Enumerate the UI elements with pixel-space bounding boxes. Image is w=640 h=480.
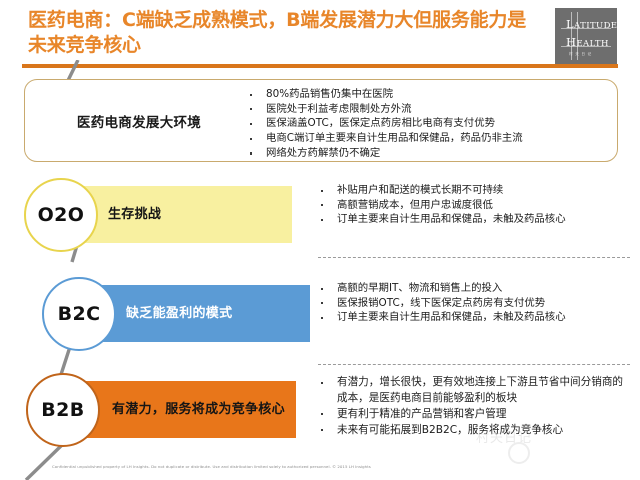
list-item: 网络处方药解禁仍不确定: [247, 146, 609, 160]
node-circle-b2b[interactable]: B2B: [26, 373, 100, 447]
environment-panel: 医药电商发展大环境 80%药品销售仍集中在医院 医院处于利益考虑限制处方外流 医…: [24, 79, 618, 162]
latitude-health-logo: LATITUDE HEALTH 村夫日记: [555, 8, 617, 64]
list-item: 补贴用户和配送的模式长期不可持续: [318, 183, 630, 197]
list-item: 订单主要来自计生用品和保健品，未触及药品核心: [318, 212, 630, 226]
bullets-o2o: 补贴用户和配送的模式长期不可持续 高额营销成本，但用户忠诚度很低 订单主要来自计…: [318, 183, 630, 227]
footer-disclaimer: Confidential unpublished property of LH …: [52, 464, 612, 469]
environment-label: 医药电商发展大环境: [43, 111, 235, 131]
logo-latitude-capital: L: [566, 17, 574, 31]
list-item: 更有利于精准的产品营销和客户管理: [318, 407, 630, 423]
list-item: 医保涵盖OTC，医保定点药房相比电商有支付优势: [247, 116, 609, 130]
page-title: 医药电商：C端缺乏成熟模式，B端发展潜力大但服务能力是未来竞争核心: [28, 8, 528, 58]
list-item: 高额营销成本，但用户忠诚度很低: [318, 198, 630, 212]
watermark-ring-icon: [508, 442, 530, 464]
list-item: 订单主要来自计生用品和保健品，未触及药品核心: [318, 310, 630, 324]
list-item: 高额的早期IT、物流和销售上的投入: [318, 281, 630, 295]
node-circle-o2o[interactable]: O2O: [24, 178, 98, 252]
environment-bullet-list: 80%药品销售仍集中在医院 医院处于利益考虑限制处方外流 医保涵盖OTC，医保定…: [247, 87, 609, 161]
bar-label-b2b: 有潜力，服务将成为竞争核心: [66, 401, 295, 419]
bar-b2b[interactable]: 有潜力，服务将成为竞争核心: [66, 381, 296, 438]
node-circle-b2c-label: B2C: [58, 303, 101, 325]
bullets-b2c: 高额的早期IT、物流和销售上的投入 医保报销OTC，线下医保定点药房有支付优势 …: [318, 281, 630, 325]
logo-line-latitude: LATITUDE: [566, 17, 617, 31]
separator-o2o-b2c: [318, 257, 630, 258]
list-item: 医保报销OTC，线下医保定点药房有支付优势: [318, 296, 630, 310]
node-circle-o2o-label: O2O: [38, 204, 85, 226]
node-circle-b2c[interactable]: B2C: [42, 277, 116, 351]
separator-b2c-b2b: [318, 364, 630, 365]
logo-health-rest: EALTH: [576, 39, 608, 49]
list-item: 未来有可能拓展到B2B2C，服务将成为竞争核心: [318, 423, 630, 439]
bullets-b2b: 有潜力，增长很快，更有效地连接上下游且节省中间分销商的成本，是医药电商目前能够盈…: [318, 375, 630, 439]
logo-line-health: HEALTH: [566, 35, 609, 49]
node-circle-b2b-label: B2B: [41, 399, 84, 421]
list-item: 80%药品销售仍集中在医院: [247, 87, 609, 101]
list-item: 电商C端订单主要来自计生用品和保健品，药品仍非主流: [247, 131, 609, 145]
list-item: 医院处于利益考虑限制处方外流: [247, 102, 609, 116]
logo-subtext: 村夫日记: [569, 52, 594, 57]
logo-health-capital: H: [566, 35, 576, 49]
logo-latitude-rest: ATITUDE: [574, 21, 617, 31]
list-item: 有潜力，增长很快，更有效地连接上下游且节省中间分销商的成本，是医药电商目前能够盈…: [318, 375, 630, 406]
